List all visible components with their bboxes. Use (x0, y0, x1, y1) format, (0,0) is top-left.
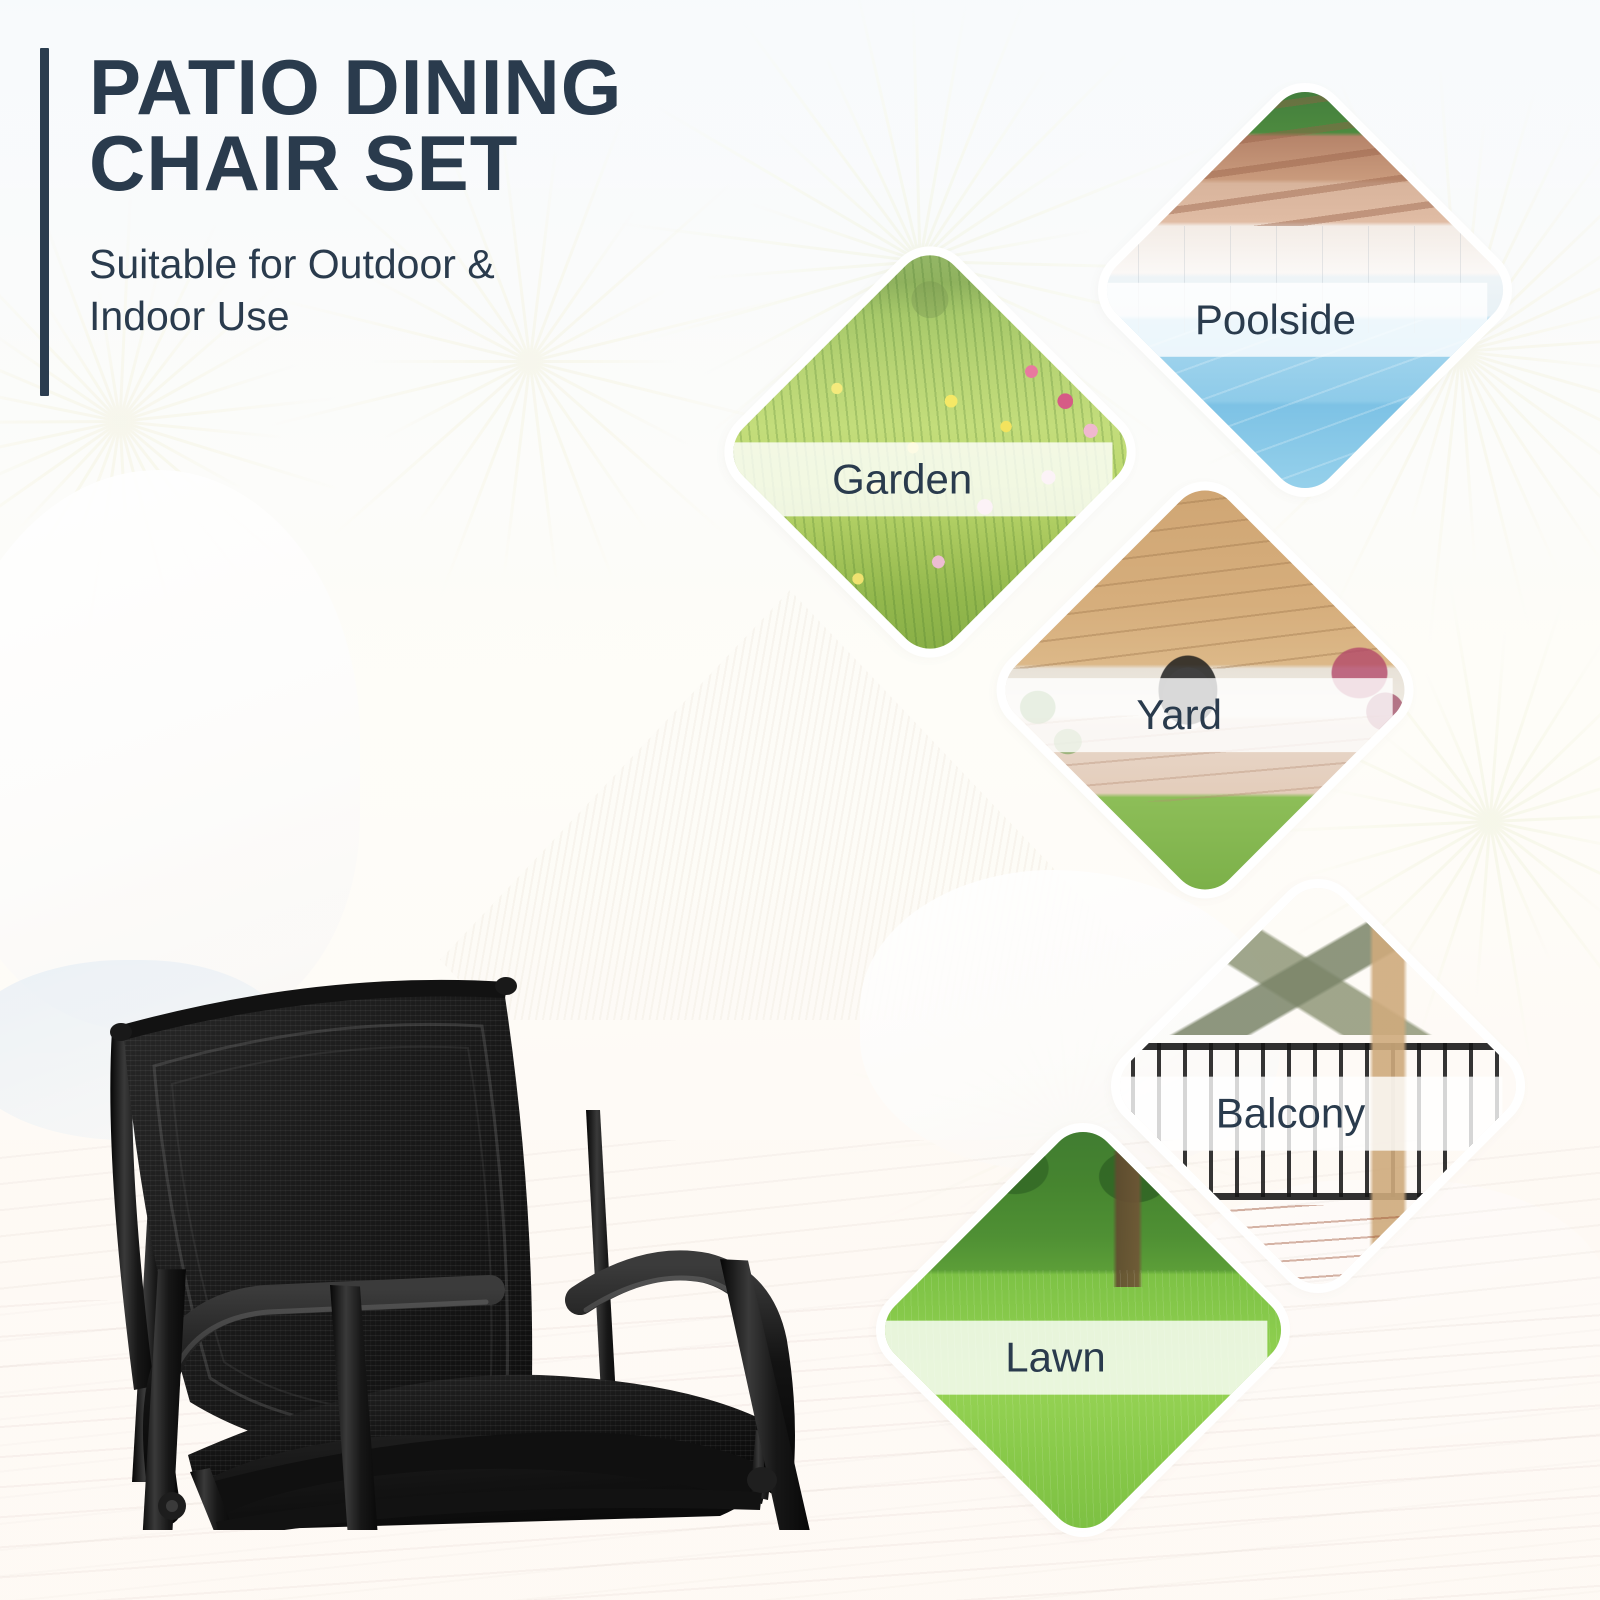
marketing-banner: PATIO DINING CHAIR SET Suitable for Outd… (0, 0, 1600, 1600)
page-subtitle: Suitable for Outdoor & Indoor Use (89, 239, 622, 342)
chair-hardware-knob (166, 1500, 178, 1512)
yard-label-band: Yard (991, 679, 1392, 753)
use-case-tile-yard[interactable]: Yard (991, 476, 1418, 903)
use-case-tile-poolside[interactable]: Poolside (1093, 78, 1517, 502)
chair-back-cap-right (495, 977, 517, 995)
page-title: PATIO DINING CHAIR SET (89, 50, 622, 201)
use-case-label: Yard (1137, 695, 1223, 737)
chair-back-cap-left (110, 1023, 132, 1041)
use-case-label: Balcony (1216, 1093, 1365, 1135)
use-case-label: Lawn (1005, 1337, 1105, 1379)
product-image-chair (20, 470, 840, 1530)
lawn-grass-texture (871, 1270, 1295, 1542)
lawn-label-band: Lawn (871, 1321, 1268, 1395)
accent-bar (40, 48, 49, 396)
headline-block: PATIO DINING CHAIR SET Suitable for Outd… (40, 48, 622, 396)
chair-hardware-knob (747, 1467, 777, 1493)
poolside-label-band: Poolside (1093, 283, 1488, 357)
use-case-label: Poolside (1195, 299, 1356, 341)
use-case-label: Garden (833, 458, 973, 500)
garden-label-band: Garden (719, 442, 1113, 516)
balcony-label-band: Balcony (1106, 1077, 1503, 1151)
poolside-pergola-beams (1093, 78, 1517, 226)
